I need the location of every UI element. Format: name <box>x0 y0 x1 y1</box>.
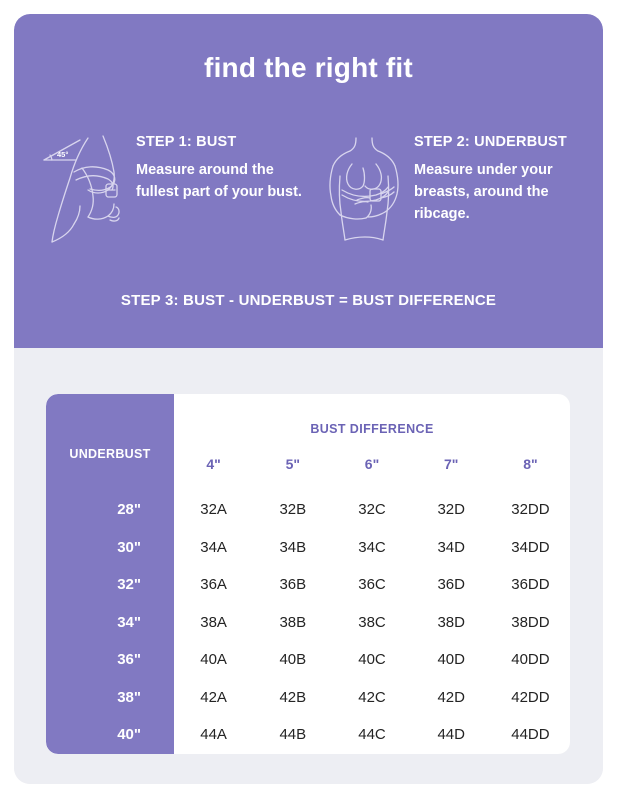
size-cell: 36A <box>174 576 253 593</box>
size-cell: 40A <box>174 651 253 668</box>
size-cell: 32DD <box>491 501 570 518</box>
size-cell: 36DD <box>491 576 570 593</box>
column-headers: 4"5"6"7"8" <box>174 456 570 472</box>
size-cell: 42DD <box>491 689 570 706</box>
underbust-value: 40" <box>46 716 174 754</box>
step-1-text: STEP 1: BUST Measure around the fullest … <box>136 132 320 203</box>
size-cell: 44C <box>332 726 411 743</box>
size-cell: 38A <box>174 614 253 631</box>
column-header: 5" <box>253 456 332 472</box>
underbust-column: UNDERBUST 28"30"32"34"36"38"40" <box>46 394 174 754</box>
size-guide-card: find the right fit 45° <box>14 14 603 784</box>
size-cell: 34C <box>332 539 411 556</box>
column-header: 8" <box>491 456 570 472</box>
size-cell: 42D <box>412 689 491 706</box>
steps-container: 45° <box>14 132 603 262</box>
size-cell: 34D <box>412 539 491 556</box>
size-cell: 32D <box>412 501 491 518</box>
step-2: STEP 2: UNDERBUST Measure under your bre… <box>314 132 598 244</box>
underbust-value: 28" <box>46 491 174 529</box>
size-cell: 34B <box>253 539 332 556</box>
size-cell: 40C <box>332 651 411 668</box>
underbust-column-title: UNDERBUST <box>46 447 174 461</box>
underbust-values-list: 28"30"32"34"36"38"40" <box>46 491 174 754</box>
size-cell: 38B <box>253 614 332 631</box>
size-cell: 32B <box>253 501 332 518</box>
front-view-underbust-measure-illustration <box>314 132 414 244</box>
step-1-heading: STEP 1: BUST <box>136 134 320 150</box>
table-row: 32A32B32C32D32DD <box>174 491 570 529</box>
size-cell: 34DD <box>491 539 570 556</box>
size-cell: 40D <box>412 651 491 668</box>
size-table-zone: UNDERBUST 28"30"32"34"36"38"40" BUST DIF… <box>14 348 603 784</box>
table-row: 38A38B38C38D38DD <box>174 604 570 642</box>
size-cell: 44B <box>253 726 332 743</box>
size-cell: 44DD <box>491 726 570 743</box>
size-table: UNDERBUST 28"30"32"34"36"38"40" BUST DIF… <box>46 394 570 754</box>
table-row: 36A36B36C36D36DD <box>174 566 570 604</box>
size-cell: 42A <box>174 689 253 706</box>
size-cell: 44D <box>412 726 491 743</box>
size-cell: 32A <box>174 501 253 518</box>
size-cell: 36C <box>332 576 411 593</box>
size-cell: 38DD <box>491 614 570 631</box>
column-header: 4" <box>174 456 253 472</box>
table-row: 34A34B34C34D34DD <box>174 529 570 567</box>
underbust-value: 36" <box>46 641 174 679</box>
underbust-value: 32" <box>46 566 174 604</box>
step-2-body: Measure under your breasts, around the r… <box>414 159 598 225</box>
table-row: 44A44B44C44D44DD <box>174 716 570 754</box>
size-cell: 38D <box>412 614 491 631</box>
size-cell: 36D <box>412 576 491 593</box>
hero-panel: find the right fit 45° <box>14 14 603 348</box>
bra-size-guide-page: find the right fit 45° <box>0 0 617 800</box>
page-title: find the right fit <box>14 52 603 84</box>
step-1: 45° <box>36 132 320 244</box>
size-cell: 42B <box>253 689 332 706</box>
column-header: 6" <box>332 456 411 472</box>
size-cell: 40DD <box>491 651 570 668</box>
underbust-value: 30" <box>46 529 174 567</box>
svg-text:45°: 45° <box>57 150 68 159</box>
size-cell: 36B <box>253 576 332 593</box>
side-view-bust-measure-illustration: 45° <box>36 132 136 244</box>
size-cell: 44A <box>174 726 253 743</box>
underbust-value: 38" <box>46 679 174 717</box>
bust-difference-grid: BUST DIFFERENCE 4"5"6"7"8" 32A32B32C32D3… <box>174 394 570 754</box>
step-1-body: Measure around the fullest part of your … <box>136 159 320 203</box>
size-cell: 40B <box>253 651 332 668</box>
size-cell: 42C <box>332 689 411 706</box>
step-3-formula: STEP 3: BUST - UNDERBUST = BUST DIFFEREN… <box>14 292 603 309</box>
table-rows: 32A32B32C32D32DD34A34B34C34D34DD36A36B36… <box>174 491 570 754</box>
table-row: 40A40B40C40D40DD <box>174 641 570 679</box>
table-row: 42A42B42C42D42DD <box>174 679 570 717</box>
step-2-text: STEP 2: UNDERBUST Measure under your bre… <box>414 132 598 225</box>
step-2-heading: STEP 2: UNDERBUST <box>414 134 598 150</box>
size-cell: 34A <box>174 539 253 556</box>
column-header: 7" <box>412 456 491 472</box>
size-cell: 38C <box>332 614 411 631</box>
underbust-value: 34" <box>46 604 174 642</box>
size-cell: 32C <box>332 501 411 518</box>
bust-difference-title: BUST DIFFERENCE <box>174 422 570 436</box>
